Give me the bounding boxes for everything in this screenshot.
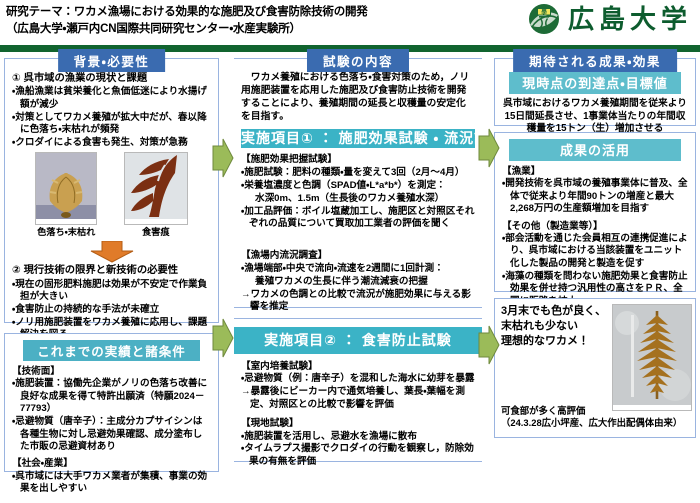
- green-arrow-middle-to-right-top: [478, 128, 500, 168]
- list-item: ・食害防止の持続的な手法が未確立: [12, 304, 211, 316]
- fishery-section-label: 【漁業】: [502, 166, 688, 178]
- social-section-bullets: ・呉市域には大手ワカメ業者が集積、事業の効果を出しやすい: [12, 471, 211, 496]
- tech-section-label: 【技術面】: [12, 366, 211, 378]
- svg-text:學: 學: [541, 8, 547, 16]
- ideal-wakame-caption1: 可食部が多く高評価: [501, 405, 682, 417]
- university-logo: 學 広島大学: [528, 3, 692, 35]
- ideal-wakame-row: 3月末でも色が良く、 末枯れも少ない 理想的なワカメ！: [495, 299, 695, 411]
- background-necessity-chip: 背景・必要性: [58, 49, 166, 72]
- left-photo-row: 色落ち・末枯れ: [22, 152, 201, 238]
- ideal-wakame-headline: 3月末でも色が良く、 末枯れも少ない 理想的なワカメ！: [501, 304, 606, 411]
- ideal-wakame-photo: [612, 304, 692, 411]
- outcome-utilization-bar: 成果の活用: [509, 139, 681, 161]
- poster-root: 研究テーマ：ワカメ漁場における効果的な施肥及び食害防除技術の開発 （広島大学・瀬…: [0, 0, 700, 485]
- green-arrow-left-to-middle-bottom: [212, 318, 234, 358]
- field-test-bullets: ・施肥装置を活用し、忌避水を漁場に散布 ・タイムラプス撮影でクロダイの行動を観察…: [241, 431, 475, 469]
- left-item2-heading: ② 現行技術の限界と新技術の必要性: [12, 265, 211, 277]
- green-arrow-middle-to-right-bottom: [478, 325, 500, 365]
- list-item: ・施肥装置：協働先企業がノリの色落ち改善に良好な成果を得て特許出願済（特願202…: [12, 378, 211, 415]
- indoor-culture-label: 【室内培養試験】: [241, 361, 475, 373]
- ideal-wakame-captions: 可食部が多く高評価 （24.3.28広小坪産、広大作出配偶体由来）: [495, 405, 688, 433]
- fertilizer-test-bullets: ・施肥試験：肥料の種類・量を変えて3回（2月～4月） ・栄養塩濃度と色調（SPA…: [241, 167, 475, 231]
- outcome-utilization-panel: 成果の活用 【漁業】 ・開発技術を呉市域の養殖事業体に普及、全体で従来より年間9…: [494, 132, 696, 292]
- research-theme-line1: 研究テーマ：ワカメ漁場における効果的な施肥及び食害防除技術の開発: [6, 6, 368, 18]
- list-item: ・漁船漁業は貧栄養化と魚価低迷により水揚げ額が減少: [12, 86, 211, 111]
- hiroshima-university-emblem-icon: 學: [528, 3, 560, 35]
- list-item: ・漁場端部・中央で流向・流速を2週間に1回計測：: [241, 263, 475, 275]
- field-test-label: 【現地試験】: [241, 418, 475, 430]
- list-item: ・加工品評価：ボイル塩蔵加工し、施肥区と対照区それぞれの品質について買取加工業者…: [241, 206, 475, 231]
- other-section-bullets: ・部会活動を通じた会員相互の連携促進により、呉市域における当該装置をユニット化し…: [502, 233, 688, 308]
- list-item: ・施肥装置を活用し、忌避水を漁場に散布: [241, 431, 475, 443]
- list-item: →暴露後にビーカー内で通気培養し、葉長・葉幅を測定、対照区との比較で影響を評価: [241, 386, 475, 411]
- past-results-chip: これまでの実績と諸条件: [23, 340, 200, 361]
- photo-discolored-wakame: 色落ち・末枯れ: [35, 152, 97, 238]
- ideal-wakame-panel: 3月末でも色が良く、 末枯れも少ない 理想的なワカメ！: [494, 298, 696, 438]
- test-content-panel: 試験の内容 ワカメ養殖における色落ち・食害対策のため，ノリ用施肥装置を応用した施…: [234, 58, 482, 308]
- list-item: ・施肥試験：肥料の種類・量を変えて3回（2月～4月）: [241, 167, 475, 179]
- tech-section-bullets: ・施肥装置：協働先企業がノリの色落ち改善に良好な成果を得て特許出願済（特願202…: [12, 378, 211, 453]
- indoor-culture-bullets: ・忌避物質（例：唐辛子）を混和した海水に幼芽を暴露 →暴露後にビーカー内で通気培…: [241, 373, 475, 411]
- expected-outcomes-panel: 期待される成果・効果 現時点の到達点・目標値 呉市域におけるワカメ養殖期間を従来…: [494, 58, 696, 126]
- list-item: →ワカメの色調との比較で流況が施肥効果に与える影響を推定: [241, 289, 475, 314]
- list-item: 水深0m、1.5m（生長後のワカメ養殖水深）: [241, 193, 475, 205]
- list-item: ・忌避物質（唐辛子）：主成分カプサイシンは各種生物に対し忌避効果確認、成分塗布し…: [12, 416, 211, 453]
- photo1-caption: 色落ち・末枯れ: [35, 226, 97, 238]
- list-item: ・現在の固形肥料施肥は効果が不安定で作業負担が大きい: [12, 279, 211, 304]
- left-column: 背景・必要性 ① 呉市域の漁業の現状と課題 ・漁船漁業は貧栄養化と魚価低迷により…: [4, 58, 219, 472]
- research-theme-title: 研究テーマ：ワカメ漁場における効果的な施肥及び食害防除技術の開発 （広島大学・瀬…: [6, 4, 476, 38]
- middle-column: 試験の内容 ワカメ養殖における色落ち・食害対策のため，ノリ用施肥装置を応用した施…: [234, 58, 482, 462]
- other-section-label: 【その他（製造業等）】: [502, 221, 688, 233]
- list-item: 養殖ワカメの生長に伴う潮流減衰の把握: [241, 276, 475, 288]
- current-target-text: 呉市域におけるワカメ養殖期間を従来より15日間延長させ、1事業体当たりの年間収穫…: [495, 94, 695, 136]
- past-results-panel: これまでの実績と諸条件 【技術面】 ・施肥装置：協働先企業がノリの色落ち改善に良…: [4, 333, 219, 472]
- poster-header: 研究テーマ：ワカメ漁場における効果的な施肥及び食害防除技術の開発 （広島大学・瀬…: [0, 0, 700, 45]
- list-item: ・開発技術を呉市域の養殖事業体に普及、全体で従来より年間90トンの増産と最大2,…: [502, 178, 688, 215]
- current-target-bar: 現時点の到達点・目標値: [509, 72, 681, 94]
- implementation-item2-bar: 実施項目② ： 食害防止試験: [234, 327, 482, 354]
- list-item: ・対策としてワカメ養殖が拡大中だが、春以降に色落ち・末枯れが頻発: [12, 112, 211, 137]
- left-item1-bullets: ・漁船漁業は貧栄養化と魚価低迷により水揚げ額が減少 ・対策としてワカメ養殖が拡大…: [12, 86, 211, 149]
- list-item: ・部会活動を通じた会員相互の連携促進により、呉市域における当該装置をユニット化し…: [502, 233, 688, 270]
- list-item: ・クロダイによる食害も発生、対策が急務: [12, 137, 211, 149]
- fishery-section-bullets: ・開発技術を呉市域の養殖事業体に普及、全体で従来より年間90トンの増産と最大2,…: [502, 178, 688, 215]
- implementation-item1-bar: 実施項目① ： 施肥効果試験 ・ 流況調査: [241, 129, 475, 148]
- photo-grazing-damage: 食害痕: [124, 152, 188, 238]
- test-content-chip: 試験の内容: [307, 49, 409, 72]
- list-item: ・栄養塩濃度と色調（SPAD値・L*a*b*）を測定：: [241, 180, 475, 192]
- flow-survey-bullets: ・漁場端部・中央で流向・流速を2週間に1回計測： 養殖ワカメの生長に伴う潮流減衰…: [241, 263, 475, 314]
- orange-down-arrow-icon: [89, 241, 135, 263]
- flow-survey-label: 【漁場内流況調査】: [241, 250, 475, 262]
- discolored-withered-wakame-photo: [35, 152, 97, 224]
- grazing-damage-photo: [124, 152, 188, 224]
- green-arrow-left-to-middle-top: [212, 138, 234, 178]
- left-item1-heading: ① 呉市域の漁業の現状と課題: [12, 73, 211, 85]
- list-item: ・呉市域には大手ワカメ業者が集積、事業の効果を出しやすい: [12, 471, 211, 496]
- background-necessity-panel: 背景・必要性 ① 呉市域の漁業の現状と課題 ・漁船漁業は貧栄養化と魚価低迷により…: [4, 58, 219, 323]
- university-name: 広島大学: [568, 3, 692, 35]
- photo2-caption: 食害痕: [124, 226, 188, 238]
- list-item: ・忌避物質（例：唐辛子）を混和した海水に幼芽を暴露: [241, 373, 475, 385]
- right-column: 期待される成果・効果 現時点の到達点・目標値 呉市域におけるワカメ養殖期間を従来…: [494, 58, 696, 438]
- test-content-intro: ワカメ養殖における色落ち・食害対策のため，ノリ用施肥装置を応用した施肥及び食害防…: [241, 71, 475, 123]
- expected-outcomes-chip: 期待される成果・効果: [513, 49, 677, 72]
- pest-prevention-panel: 実施項目② ： 食害防止試験 【室内培養試験】 ・忌避物質（例：唐辛子）を混和し…: [234, 318, 482, 462]
- list-item: ・タイムラプス撮影でクロダイの行動を観察し，防除効果の有無を評価: [241, 443, 475, 468]
- research-theme-line2: （広島大学・瀬戸内CN国際共同研究センター・水産実験所）: [6, 21, 476, 38]
- fertilizer-test-label: 【施肥効果把握試験】: [241, 154, 475, 166]
- ideal-wakame-caption2: （24.3.28広小坪産、広大作出配偶体由来）: [501, 417, 682, 429]
- social-section-label: 【社会・産業】: [12, 458, 211, 470]
